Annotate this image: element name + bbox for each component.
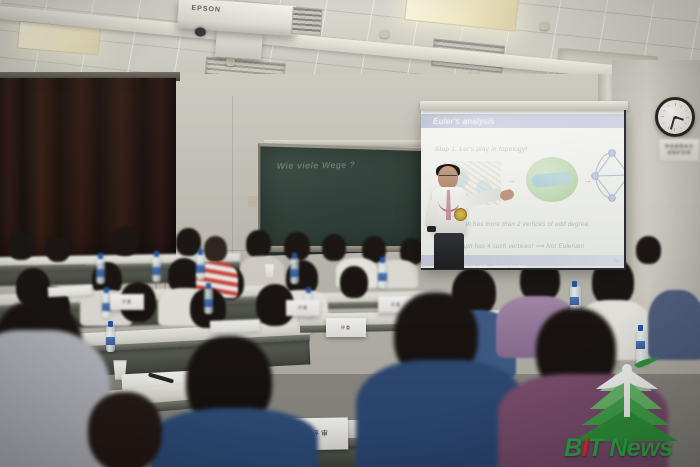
wristwatch-icon xyxy=(427,226,436,232)
watermark: BIT News xyxy=(556,357,696,465)
wall-sign-line-2: 请保护及用 xyxy=(667,150,691,156)
water-bottle[interactable] xyxy=(96,258,105,284)
name-card: 评委 xyxy=(286,300,320,316)
student-head xyxy=(8,232,34,260)
projection-screen-case xyxy=(420,101,628,110)
name-card-text: 评委 xyxy=(298,305,308,311)
watermark-text: BIT News xyxy=(564,434,673,463)
water-bottle[interactable] xyxy=(378,262,387,288)
student-head xyxy=(246,230,271,258)
wall-notice-sign: 申请使用本号 请保护及用 xyxy=(658,138,700,162)
name-card-text: 评委 xyxy=(341,325,351,331)
water-bottle[interactable] xyxy=(106,326,115,352)
water-bottle[interactable] xyxy=(204,288,213,314)
name-card: 评委 xyxy=(110,294,144,310)
presenter-trousers xyxy=(434,233,464,269)
presenter-badge xyxy=(454,208,467,221)
wall-patch xyxy=(248,196,257,207)
student-head xyxy=(322,234,346,261)
notepaper[interactable] xyxy=(210,319,260,333)
student-head xyxy=(284,232,310,261)
student-head xyxy=(340,266,368,298)
name-card-text: 评委 xyxy=(122,299,132,305)
ceiling-projector-icon: EPSON xyxy=(177,0,297,36)
projector-brand-label: EPSON xyxy=(191,5,221,14)
student-body xyxy=(648,290,700,360)
student-head xyxy=(46,236,70,262)
sprinkler-head-icon xyxy=(226,58,235,66)
foreground-student-head xyxy=(88,392,162,467)
wall-seam xyxy=(232,96,233,266)
lecture-hall-photo: EPSON 申请使用本号 请保护及用 Wie viele Wege ? Eule… xyxy=(0,0,700,467)
name-card-text: 评委 xyxy=(391,302,401,308)
clock-center-pin xyxy=(674,116,677,119)
name-card: 评委 xyxy=(326,318,366,337)
projector-vent xyxy=(291,7,323,36)
student-head xyxy=(204,236,227,262)
blackboard-chalk-text: Wie viele Wege ? xyxy=(276,160,355,171)
foreground-student-body xyxy=(150,408,318,467)
sprinkler-head-icon xyxy=(380,30,389,38)
water-bottle[interactable] xyxy=(196,254,205,280)
presenter xyxy=(424,166,484,268)
water-bottle[interactable] xyxy=(290,258,299,284)
sprinkler-head-icon xyxy=(540,22,549,30)
water-bottle[interactable] xyxy=(152,256,161,282)
watermark-brand-rest: T News xyxy=(588,434,673,462)
student-head xyxy=(112,226,138,256)
student-head xyxy=(636,236,661,264)
watermark-brand-b: B xyxy=(564,434,582,462)
wall-clock-icon xyxy=(655,97,695,137)
glasses-icon xyxy=(439,175,457,181)
